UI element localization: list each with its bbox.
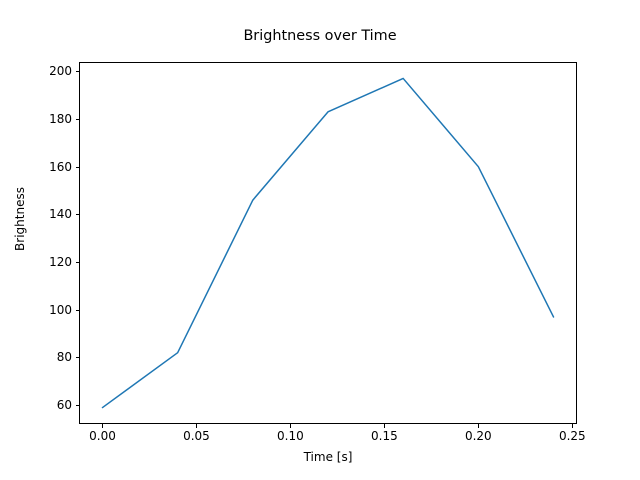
y-tick-mark bbox=[76, 357, 80, 358]
y-tick-mark bbox=[76, 262, 80, 263]
x-tick-label: 0.15 bbox=[354, 430, 414, 442]
y-tick-label: 80 bbox=[57, 351, 72, 363]
chart-title: Brightness over Time bbox=[0, 28, 640, 44]
brightness-series-line bbox=[102, 78, 553, 407]
y-tick-label: 100 bbox=[49, 304, 72, 316]
x-axis-label: Time [s] bbox=[79, 450, 577, 464]
y-tick-mark bbox=[76, 310, 80, 311]
x-tick-mark bbox=[196, 424, 197, 428]
y-tick-mark bbox=[76, 405, 80, 406]
y-tick-label: 180 bbox=[49, 113, 72, 125]
y-tick-label: 200 bbox=[49, 65, 72, 77]
x-tick-mark bbox=[478, 424, 479, 428]
x-tick-label: 0.20 bbox=[448, 430, 508, 442]
y-tick-label: 60 bbox=[57, 399, 72, 411]
y-axis-tick-labels: 6080100120140160180200 bbox=[0, 0, 72, 480]
y-tick-mark bbox=[76, 71, 80, 72]
x-tick-label: 0.25 bbox=[542, 430, 602, 442]
matplotlib-figure: Brightness over Time 6080100120140160180… bbox=[0, 0, 640, 480]
x-tick-mark bbox=[102, 424, 103, 428]
x-tick-mark bbox=[572, 424, 573, 428]
x-tick-label: 0.05 bbox=[166, 430, 226, 442]
x-tick-mark bbox=[290, 424, 291, 428]
y-tick-mark bbox=[76, 167, 80, 168]
y-tick-label: 120 bbox=[49, 256, 72, 268]
x-tick-mark bbox=[384, 424, 385, 428]
x-tick-label: 0.00 bbox=[72, 430, 132, 442]
y-axis-label: Brightness bbox=[13, 169, 27, 269]
y-tick-label: 140 bbox=[49, 208, 72, 220]
y-tick-mark bbox=[76, 214, 80, 215]
y-tick-label: 160 bbox=[49, 161, 72, 173]
line-plot-area bbox=[79, 62, 577, 424]
x-tick-label: 0.10 bbox=[260, 430, 320, 442]
y-tick-mark bbox=[76, 119, 80, 120]
